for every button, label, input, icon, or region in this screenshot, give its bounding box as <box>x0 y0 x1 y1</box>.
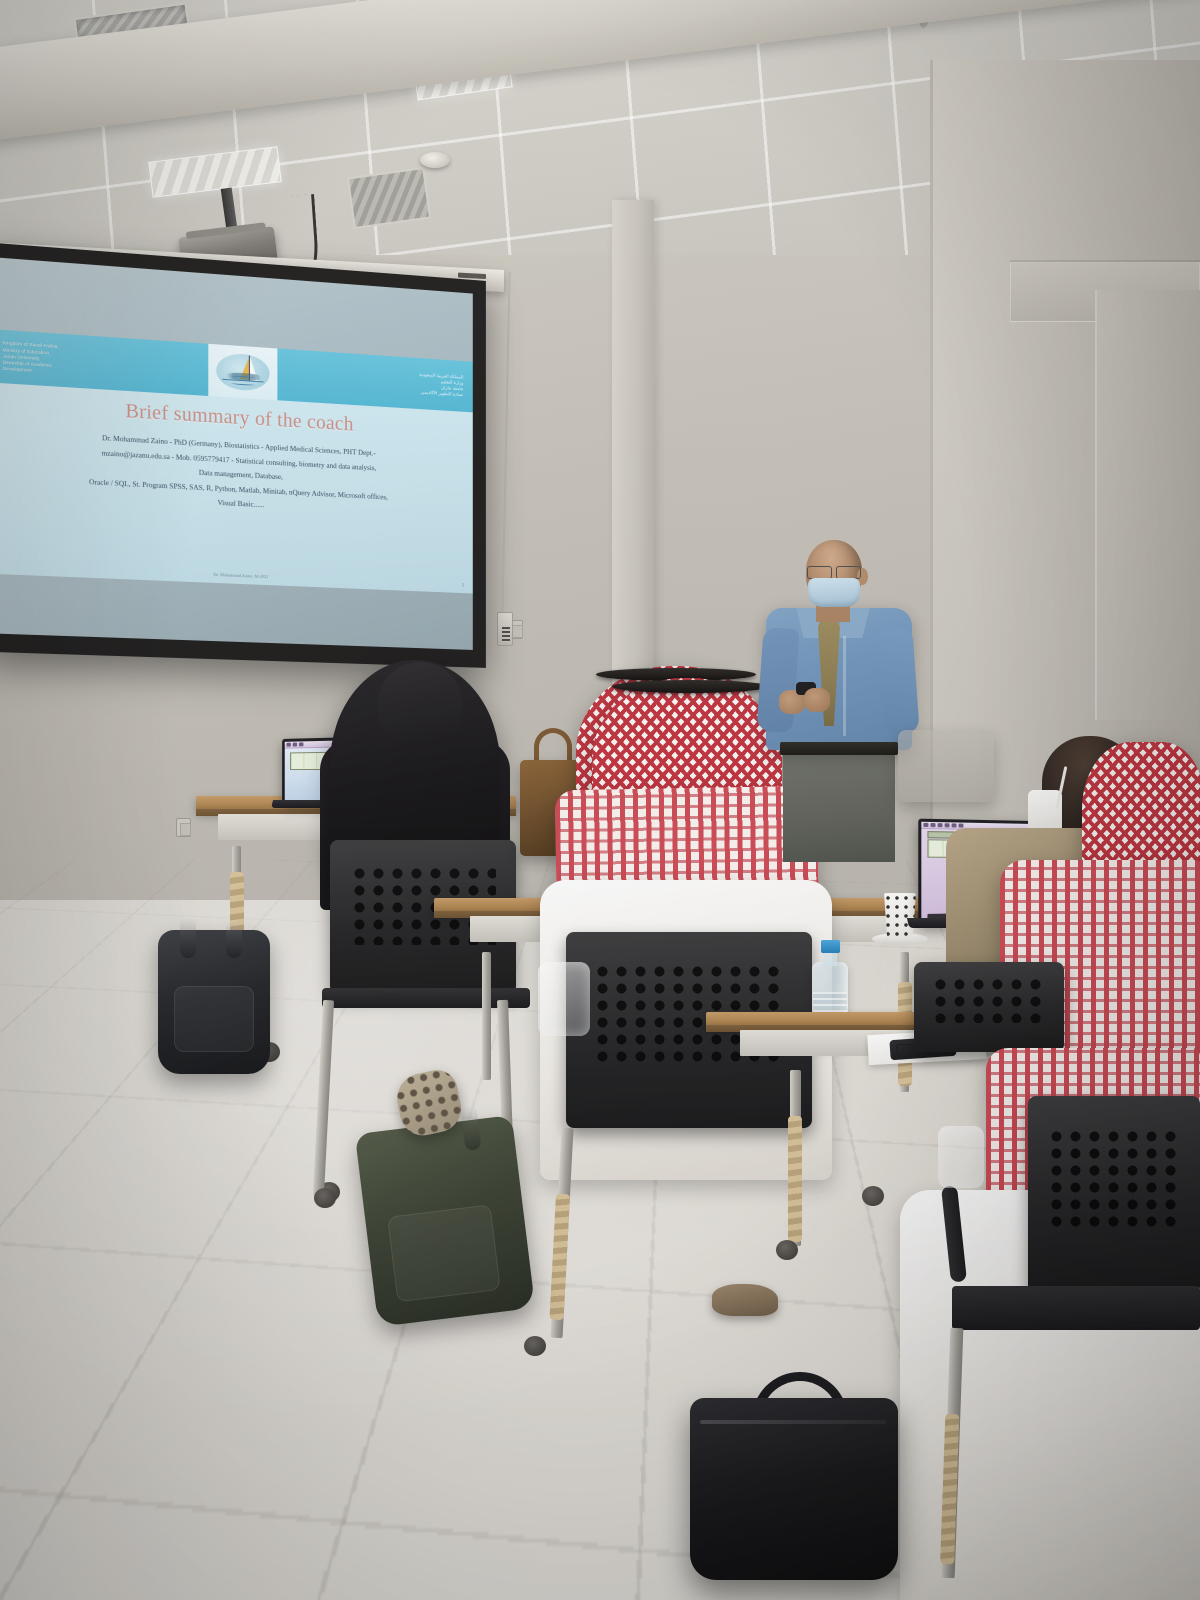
classroom-photo-scene: Kingdom of Saudi Arabia, Ministry of Edu… <box>0 0 1200 1600</box>
black-backpack[interactable] <box>158 930 270 1074</box>
bottle-cap[interactable] <box>821 940 840 953</box>
presenter-right-hand <box>804 688 830 712</box>
paper-cup[interactable] <box>884 893 916 938</box>
backpack-strap <box>180 916 196 958</box>
desk-leg-wrap <box>788 1116 802 1242</box>
presenter-shirt-placket <box>843 636 846 736</box>
backpack-pocket <box>387 1204 501 1302</box>
screen-brand-label <box>458 273 486 280</box>
presenter-left-arm <box>756 627 799 733</box>
toolbar-icon[interactable] <box>930 823 935 827</box>
toolbar-icon[interactable] <box>959 824 964 828</box>
toolbar-icon[interactable] <box>938 823 943 827</box>
chair-back <box>898 730 994 802</box>
olive-green-backpack[interactable] <box>355 1115 535 1327</box>
plastic-wrap <box>538 962 590 1036</box>
projection-screen: Kingdom of Saudi Arabia, Ministry of Edu… <box>0 242 486 668</box>
toolbar-icon[interactable] <box>923 823 928 827</box>
presentation-slide: Kingdom of Saudi Arabia, Ministry of Edu… <box>0 329 473 593</box>
plastic-wrap <box>938 1126 984 1188</box>
desk-leg <box>790 1070 801 1246</box>
empty-chair[interactable] <box>898 730 994 802</box>
screen-cord-handle[interactable] <box>497 612 513 646</box>
chair[interactable] <box>1028 1096 1200 1294</box>
hvac-diffuser <box>347 167 431 229</box>
presenter-belt <box>780 742 898 755</box>
leather-sandal <box>712 1284 778 1316</box>
chair-perforations <box>1047 1128 1181 1231</box>
slide-footer: Dr. Mohammad Zaino, M-2021 <box>0 563 473 588</box>
chair[interactable] <box>914 962 1064 1052</box>
presenter-trousers <box>783 752 895 862</box>
handbag-zipper[interactable] <box>700 1420 886 1424</box>
slide-header-left-band: Kingdom of Saudi Arabia, Ministry of Edu… <box>0 329 208 396</box>
desk-caster <box>862 1186 884 1206</box>
chair-back <box>914 962 1064 1052</box>
chair-caster <box>314 1188 336 1208</box>
projection-screen-surface: Kingdom of Saudi Arabia, Ministry of Edu… <box>0 257 473 649</box>
attendee-abaya-left-head <box>378 662 462 744</box>
toolbar-icon <box>293 743 297 747</box>
slide-header-right-band: المملكة العربية السعودية وزارة التعليم ج… <box>277 348 473 412</box>
face-mask <box>808 578 860 607</box>
slide-header-english: Kingdom of Saudi Arabia, Ministry of Edu… <box>3 341 59 376</box>
slide-page-number: 2 <box>462 582 464 587</box>
chair-seat[interactable] <box>952 1286 1200 1330</box>
wall-socket[interactable] <box>176 818 191 837</box>
desk-leg <box>482 952 491 1080</box>
chair-back <box>1028 1096 1200 1294</box>
toolbar-icon <box>286 743 290 747</box>
black-handbag[interactable] <box>690 1398 898 1580</box>
eyeglasses-icon <box>805 566 863 577</box>
door-frame <box>1095 290 1200 720</box>
backpack-strap <box>226 920 242 958</box>
desk-caster <box>776 1240 798 1260</box>
chair-caster <box>524 1336 546 1356</box>
slide-header-arabic: المملكة العربية السعودية وزارة التعليم ج… <box>283 362 467 398</box>
toolbar-icon <box>299 742 304 746</box>
toolbar-icon[interactable] <box>952 823 957 827</box>
smoke-detector <box>420 152 450 168</box>
chair-perforations <box>931 976 1048 1023</box>
presenter-right-arm <box>878 627 919 735</box>
backpack-pocket <box>174 986 254 1052</box>
slide-body: Dr. Mohammad Zaino - PhD (Germany), Bios… <box>0 425 473 523</box>
logo-oval-icon <box>216 352 269 391</box>
university-logo-icon <box>208 344 277 400</box>
igal-headband <box>612 680 768 693</box>
toolbar-icon[interactable] <box>945 823 950 827</box>
